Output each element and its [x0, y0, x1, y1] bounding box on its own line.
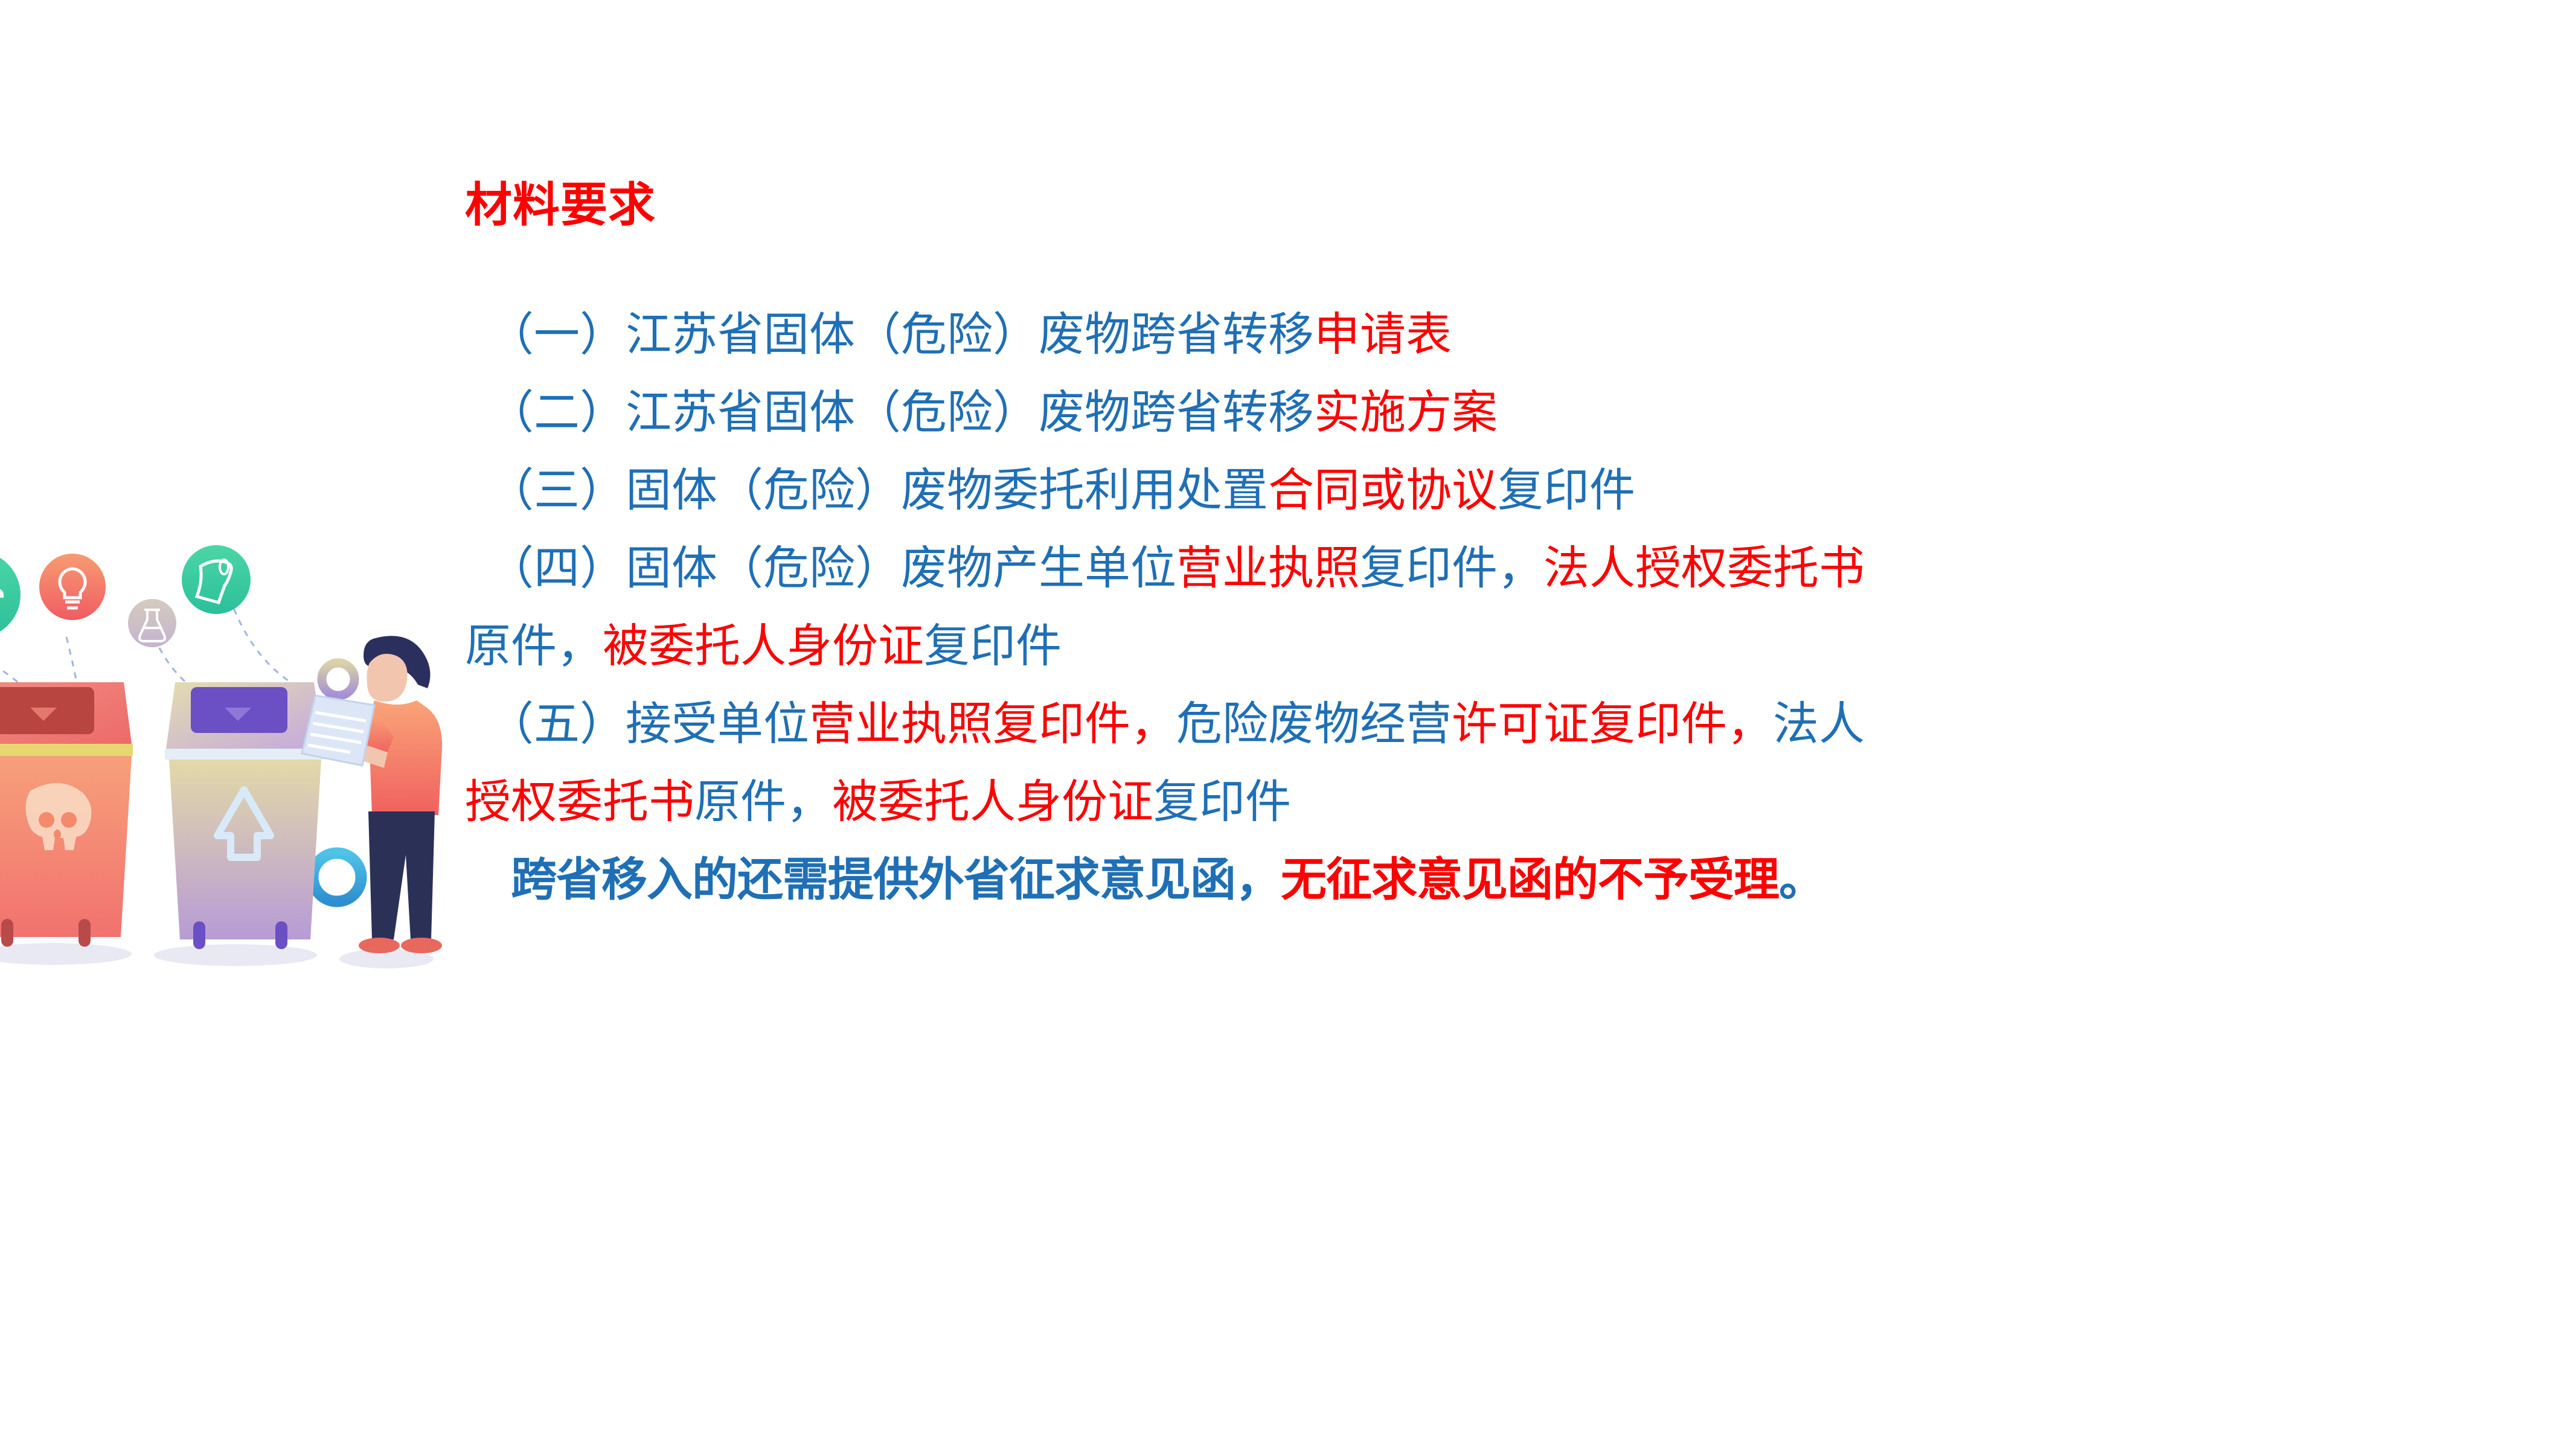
text-segment: 法人授权委托书: [1543, 543, 1865, 594]
text-segment: 复印件: [924, 621, 1062, 672]
bin-shadow-right: [154, 944, 317, 966]
text-segment: 复印件，: [1360, 543, 1543, 594]
cloud-icon: [0, 551, 21, 638]
text-segment: （二）江苏省固体（危险）废物跨省转移: [488, 387, 1314, 438]
text-segment: 原件，: [465, 621, 603, 672]
text-segment: 。: [1779, 854, 1824, 906]
decorative-ring-large: [313, 853, 361, 901]
paper-roll-icon: [182, 545, 251, 614]
requirement-line-item-5: （五）接受单位营业执照复印件，危险废物经营许可证复印件，法人: [465, 685, 2476, 763]
text-segment: 复印件: [1498, 465, 1635, 516]
text-segment: 被委托人身份证: [603, 621, 924, 672]
text-segment: 营业执照: [1176, 543, 1360, 594]
text-segment: （三）固体（危险）废物委托利用处置: [488, 465, 1268, 516]
text-segment: 申请表: [1314, 309, 1452, 360]
text-segment: 原件，: [694, 776, 832, 828]
text-segment: 实施方案: [1314, 387, 1498, 438]
requirement-line-item-3: （三）固体（危险）废物委托利用处置合同或协议复印件: [465, 452, 2476, 529]
text-segment: 许可证复印件，: [1452, 699, 1773, 750]
flask-icon: [128, 599, 176, 647]
text-segment: 法人: [1773, 699, 1865, 750]
requirement-line-item-5-wrap: 授权委托书原件，被委托人身份证复印件: [465, 763, 2476, 841]
text-segment: 无征求意见函的不予受理: [1281, 854, 1779, 906]
bin-shadow-left: [0, 943, 132, 965]
requirement-line-item-4-wrap: 原件，被委托人身份证复印件: [465, 607, 2476, 685]
requirement-line-item-1: （一）江苏省固体（危险）废物跨省转移申请表: [465, 296, 2476, 374]
requirement-line-item-2: （二）江苏省固体（危险）废物跨省转移实施方案: [465, 374, 2476, 452]
text-segment: 危险废物经营: [1176, 699, 1452, 750]
requirement-line-item-4: （四）固体（危险）废物产生单位营业执照复印件，法人授权委托书: [465, 529, 2476, 607]
lightbulb-icon: [39, 554, 106, 620]
text-segment: 合同或协议: [1268, 465, 1498, 516]
decorative-ring-small: [322, 663, 354, 696]
requirements-list: （一）江苏省固体（危险）废物跨省转移申请表（二）江苏省固体（危险）废物跨省转移实…: [465, 296, 2476, 919]
text-segment: 授权委托书: [465, 776, 694, 828]
recyclable-waste-bin: [165, 682, 325, 949]
text-segment: 营业执照复印件，: [809, 699, 1176, 750]
text-segment: （一）江苏省固体（危险）废物跨省转移: [488, 309, 1314, 360]
waste-sorting-illustration: [0, 531, 447, 990]
page-title: 材料要求: [465, 181, 2476, 228]
text-segment: （四）固体（危险）废物产生单位: [488, 543, 1176, 594]
text-segment: 跨省移入的还需提供外省征求意见函，: [511, 854, 1281, 906]
hazardous-waste-bin: [0, 682, 133, 947]
requirement-line-note-line: 跨省移入的还需提供外省征求意见函，无征求意见函的不予受理。: [465, 841, 2476, 919]
text-segment: （五）接受单位: [488, 699, 809, 750]
text-segment: 被委托人身份证: [832, 776, 1153, 828]
document-in-hand: [302, 696, 374, 766]
slide-content: 材料要求 （一）江苏省固体（危险）废物跨省转移申请表（二）江苏省固体（危险）废物…: [465, 181, 2476, 919]
text-segment: 复印件: [1153, 776, 1291, 828]
